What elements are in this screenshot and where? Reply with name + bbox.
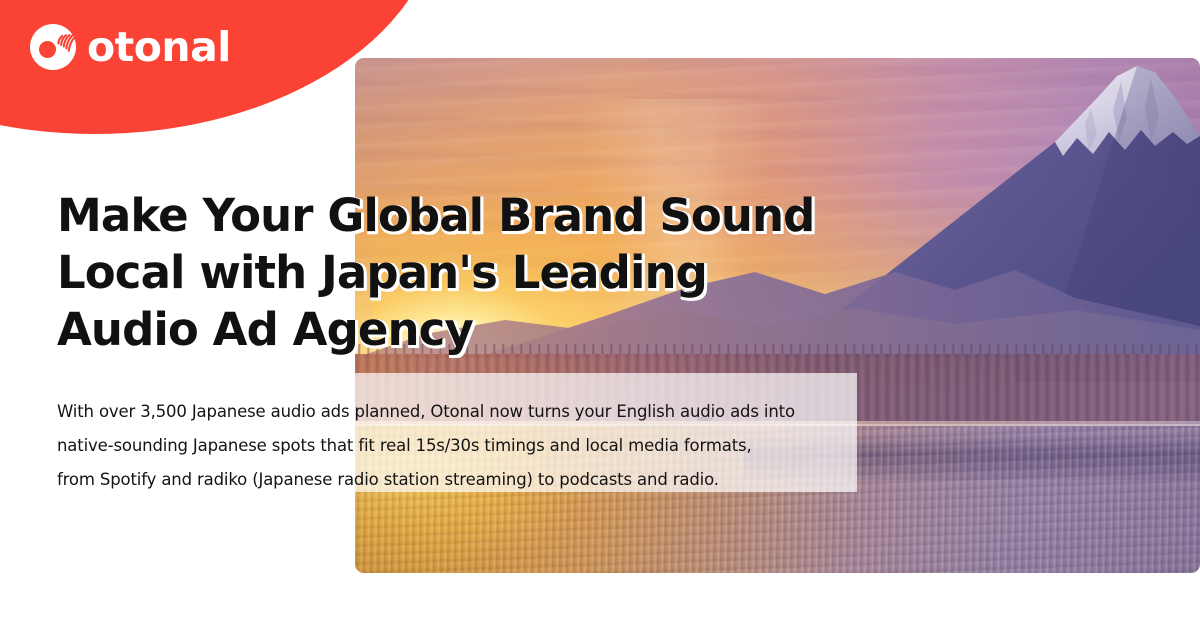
vinyl-record-soundwave-icon: [28, 22, 78, 72]
hero-banner: otonal Make Your Global Brand Sound Loca…: [0, 0, 1200, 630]
hero-headline: Make Your Global Brand Sound Local with …: [57, 188, 817, 358]
logo-wordmark: otonal: [87, 27, 231, 68]
hero-subcopy-block: With over 3,500 Japanese audio ads plann…: [57, 378, 857, 513]
hero-subcopy: With over 3,500 Japanese audio ads plann…: [57, 395, 857, 497]
otonal-logo[interactable]: otonal: [28, 22, 231, 72]
